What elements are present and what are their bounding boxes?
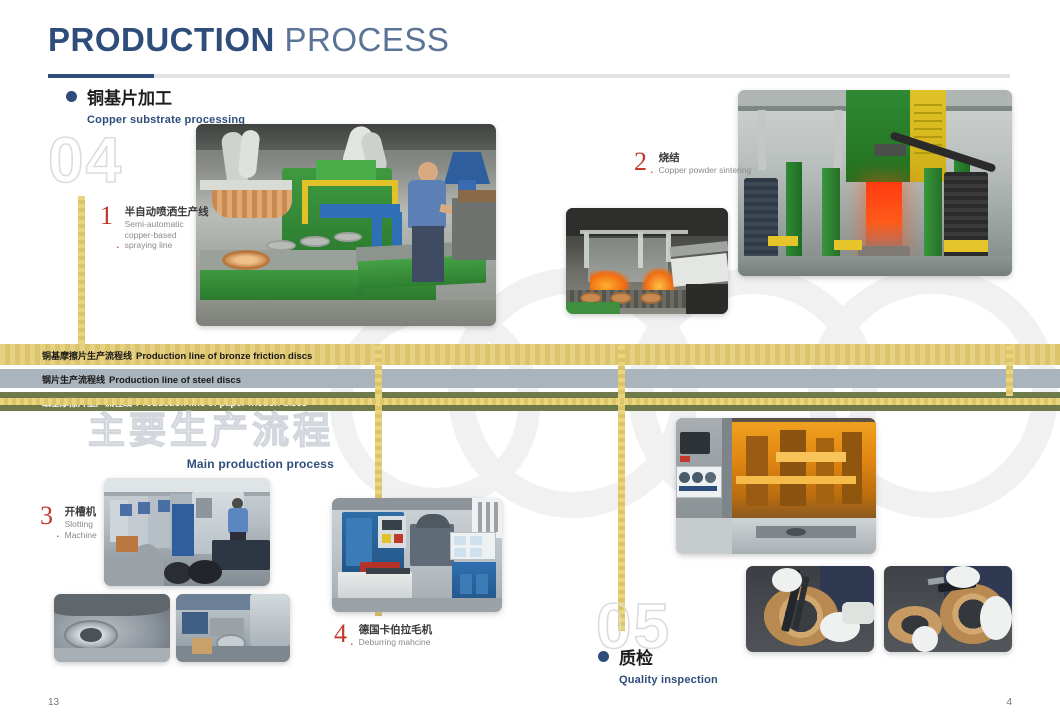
step-dot-icon: . [650,161,654,176]
section-title-cn: 铜基片加工 [87,84,172,109]
photo-inspection-furnace [676,418,876,554]
step-cn-1: 半自动喷洒生产线 [125,206,209,219]
step-label-4: 4 . 德国卡伯拉毛机 Deburring mahcine [334,622,432,648]
photo-measuring-disc-2 [884,566,1012,652]
step-number-4: 4 [334,622,347,647]
section-head-copper-substrate: 铜基片加工 Copper substrate processing [66,84,245,126]
page-title-light: PROCESS [285,21,450,58]
photo-sintering-press [738,90,1012,276]
step-number-2: 2 [634,150,647,175]
step-text-1: 半自动喷洒生产线 Semi-automatic copper-based spr… [125,204,209,251]
step-en-1: Semi-automatic copper-based spraying lin… [125,219,197,251]
main-process-cn: 主要生产流程 [88,412,334,449]
section-head-quality-inspection: 质检 Quality inspection [598,644,718,686]
process-bar-bronze-cn: 铜基摩擦片生产流程线 [42,351,132,361]
step-en-4: Deburring mahcine [359,637,433,648]
bullet-dot-icon [66,91,77,102]
step-en-2: Copper powder sintering [659,165,752,176]
photo-sintering-conveyor-art [566,208,728,314]
process-bar-bronze: 铜基摩擦片生产流程线Production line of bronze fric… [0,344,1060,365]
page-number-right: 4 [1006,697,1012,708]
step-dot-icon: . [350,633,354,648]
process-bar-steel-label: 钢片生产流程线Production line of steel discs [42,370,241,388]
photo-slotting-workshop [104,478,270,586]
page-header: PRODUCTION PROCESS [48,20,1018,78]
step-label-3: 3 . 开槽机 Slotting Machine [40,504,113,540]
connector-line-vertical-far-right [1006,346,1013,396]
section-title-cn-wrap: 铜基片加工 [66,84,245,109]
step-label-2: 2 . 烧结 Copper powder sintering [634,150,751,176]
process-bar-bronze-en: Production line of bronze friction discs [136,351,312,362]
section-title-cn-2: 质检 [619,644,653,669]
photo-slotting-closeup [54,594,170,662]
process-bar-steel-en: Production line of steel discs [109,375,241,386]
step-number-3: 3 [40,504,53,529]
step-dot-icon: . [116,236,120,251]
connector-line-vertical-right [618,346,625,631]
process-bar-steel-cn: 钢片生产流程线 [42,375,105,385]
photo-measuring-disc-1 [746,566,874,652]
connector-line-vertical-left-top [78,196,85,348]
title-rule-accent [48,74,154,78]
photo-spraying-line [196,124,496,326]
photo-slotting-workshop-art [104,478,270,586]
step-number-1: 1 [100,204,113,229]
step-en-3: Slotting Machine [65,519,113,540]
section-number-04: 04 [48,128,123,192]
photo-sintering-conveyor [566,208,728,314]
step-cn-2: 烧结 [659,152,752,165]
photo-slotting-closeup-art [54,594,170,662]
step-text-3: 开槽机 Slotting Machine [65,504,113,540]
step-cn-4: 德国卡伯拉毛机 [359,624,433,637]
section-title-cn-wrap-2: 质检 [598,644,718,669]
process-bar-bronze-label: 铜基摩擦片生产流程线Production line of bronze fric… [42,346,312,364]
photo-spraying-line-art [196,124,496,326]
step-label-1: 1 . 半自动喷洒生产线 Semi-automatic copper-based… [100,204,209,251]
step-dot-icon: . [56,525,60,540]
process-bar-steel: 钢片生产流程线Production line of steel discs [0,369,1060,388]
production-process-page: PRODUCTION PROCESS 铜基片加工 Copper substrat… [0,0,1060,724]
photo-slotting-machine-detail [176,594,290,662]
photo-measuring-disc-2-art [884,566,1012,652]
main-process-en: Main production process [88,457,334,471]
connector-line-horizontal-bottom [0,398,1060,405]
photo-measuring-disc-1-art [746,566,874,652]
bullet-dot-icon [598,651,609,662]
photo-deburring-machine-art [332,498,502,612]
page-number-left: 13 [48,697,59,708]
step-text-4: 德国卡伯拉毛机 Deburring mahcine [359,622,433,648]
photo-sintering-press-art [738,90,1012,276]
photo-slotting-machine-detail-art [176,594,290,662]
step-text-2: 烧结 Copper powder sintering [659,150,752,176]
step-cn-3: 开槽机 [65,506,113,519]
photo-deburring-machine [332,498,502,612]
main-process-heading: 主要生产流程 Main production process [88,412,334,471]
title-rule [48,74,1010,78]
photo-inspection-furnace-art [676,418,876,554]
page-title: PRODUCTION PROCESS [48,20,1018,60]
page-title-bold: PRODUCTION [48,21,275,58]
section-title-en-2: Quality inspection [619,674,718,686]
